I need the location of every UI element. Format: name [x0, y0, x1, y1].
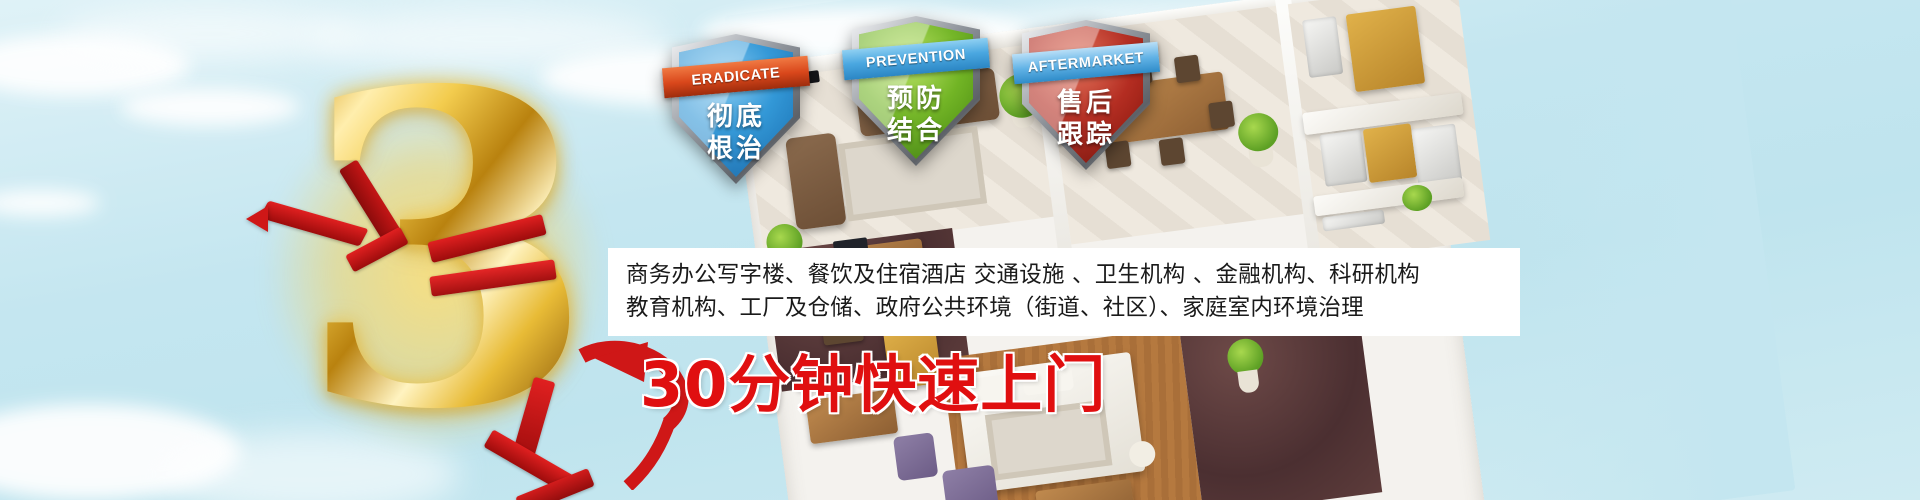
shield-cn-line2: 根治 — [672, 128, 800, 165]
service-scope-line-2: 教育机构、工厂及仓储、政府公共环境（街道、社区）、家庭室内环境治理 — [626, 292, 1498, 325]
shield-badge-prevention: 预防 结合 PREVENTION — [852, 16, 980, 166]
golden-number-emblem: 3 — [232, 78, 662, 478]
shield-badge-aftermarket: 售后 跟踪 AFTERMARKET — [1022, 20, 1150, 170]
shield-cn-line2: 结合 — [852, 110, 980, 147]
shield-band-label: AFTERMARKET — [1027, 50, 1145, 76]
cloud-icon — [0, 190, 100, 216]
shield-badge-eradicate: 彻底 根治 ERADICATE — [672, 34, 800, 184]
headline-text: 30分钟快速上门 — [640, 352, 1106, 418]
shield-band-label: ERADICATE — [691, 65, 781, 89]
service-scope-panel: 商务办公写字楼、餐饮及住宿酒店 交通设施 、卫生机构 、金融机构、科研机构 教育… — [608, 248, 1520, 336]
ribbon-arrow-head-icon — [246, 206, 268, 232]
shield-cn-line2: 跟踪 — [1022, 114, 1150, 151]
promo-banner: 3 彻底 根治 ERADICATE 预防 结合 PREVENTION — [0, 0, 1920, 500]
shield-band-label: PREVENTION — [865, 47, 966, 72]
service-scope-line-1: 商务办公写字楼、餐饮及住宿酒店 交通设施 、卫生机构 、金融机构、科研机构 — [626, 259, 1498, 292]
